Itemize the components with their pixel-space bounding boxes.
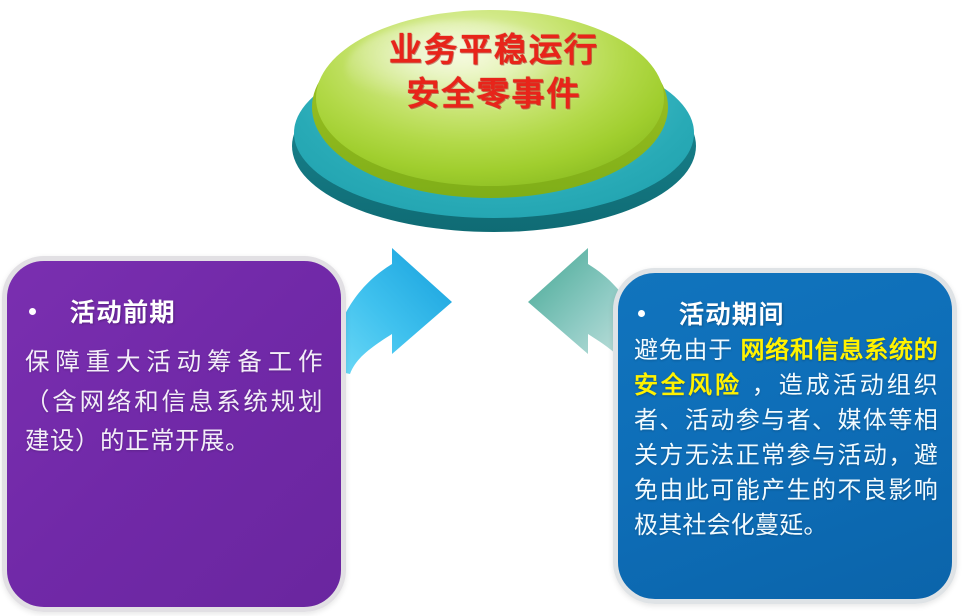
goal-label: 业务平稳运行 安全零事件 bbox=[292, 28, 696, 115]
goal-label-line2: 安全零事件 bbox=[292, 72, 696, 116]
card-during-heading-row: 活动期间 bbox=[634, 295, 938, 331]
diagram-canvas: 业务平稳运行 安全零事件 bbox=[0, 0, 980, 616]
card-during-heading: 活动期间 bbox=[679, 295, 785, 331]
card-pre-body: 保障重大活动筹备工作（含网络和信息系统规划建设）的正常开展。 bbox=[25, 343, 323, 462]
card-activity-during-phase[interactable]: 活动期间 避免由于 网络和信息系统的安全风险 ，造成活动组织者、活动参与者、媒体… bbox=[613, 268, 957, 604]
card-activity-pre-phase[interactable]: 活动前期 保障重大活动筹备工作（含网络和信息系统规划建设）的正常开展。 bbox=[2, 256, 346, 612]
arrow-left-icon bbox=[330, 246, 462, 376]
arrow-left-to-goal bbox=[330, 246, 462, 376]
card-pre-heading-row: 活动前期 bbox=[25, 293, 323, 329]
card-during-body: 避免由于 网络和信息系统的安全风险 ，造成活动组织者、活动参与者、媒体等相关方无… bbox=[634, 333, 938, 543]
card-during-body-prefix: 避免由于 bbox=[634, 337, 733, 364]
goal-label-line1: 业务平稳运行 bbox=[292, 28, 696, 72]
bullet-dot-icon bbox=[638, 310, 645, 317]
card-pre-heading: 活动前期 bbox=[70, 293, 176, 329]
goal-node[interactable]: 业务平稳运行 安全零事件 bbox=[292, 4, 696, 236]
bullet-dot-icon bbox=[29, 308, 36, 315]
